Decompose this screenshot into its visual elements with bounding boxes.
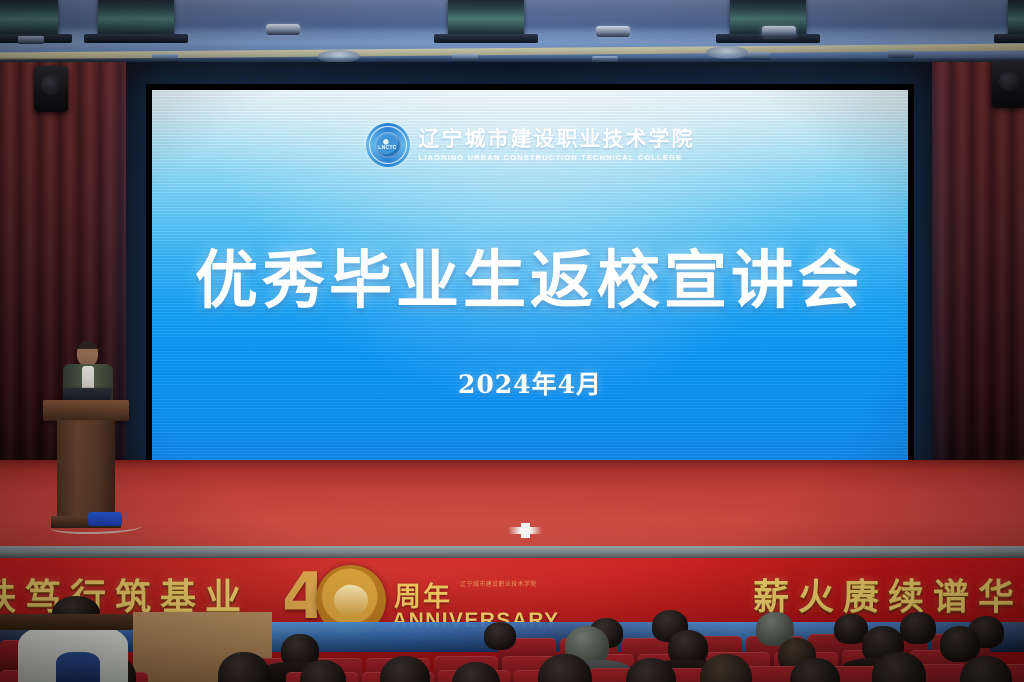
- stage-lighting-glow: [0, 460, 1024, 560]
- ceiling-light: [762, 26, 796, 37]
- presenter-head: [77, 341, 98, 366]
- wall-loudspeaker-right: [992, 62, 1024, 108]
- audience-shoulders: [56, 652, 100, 682]
- ceiling-projector: [0, 0, 58, 36]
- ceiling-projector: [448, 0, 524, 36]
- presentation-slide: LNCTC 辽宁城市建设职业技术学院 LIAONING URBAN CONSTR…: [152, 90, 908, 460]
- ceiling-projector: [1008, 0, 1024, 36]
- school-emblem-icon: LNCTC: [366, 123, 410, 167]
- school-name-en: LIAONING URBAN CONSTRUCTION TECHNICAL CO…: [419, 153, 683, 162]
- ceiling-light: [266, 24, 300, 35]
- school-name-block: 辽宁城市建设职业技术学院 LIAONING URBAN CONSTRUCTION…: [419, 128, 695, 162]
- ceiling-vent: [18, 36, 44, 44]
- slide-header: LNCTC 辽宁城市建设职业技术学院 LIAONING URBAN CONSTR…: [152, 123, 908, 167]
- auditorium-photo: LNCTC 辽宁城市建设职业技术学院 LIAONING URBAN CONSTR…: [0, 0, 1024, 682]
- led-screen-frame: LNCTC 辽宁城市建设职业技术学院 LIAONING URBAN CONSTR…: [146, 84, 914, 466]
- ceiling-vent: [888, 50, 914, 58]
- slide-title: 优秀毕业生返校宣讲会: [152, 230, 908, 321]
- audience-head: [484, 622, 516, 650]
- slide-date: 2024年4月: [152, 365, 908, 401]
- podium: [43, 400, 129, 528]
- emblem-monogram: LNCTC: [366, 145, 410, 151]
- ceiling-projector: [98, 0, 174, 36]
- school-name-cn: 辽宁城市建设职业技术学院: [419, 128, 695, 151]
- wall-loudspeaker-left: [34, 66, 68, 112]
- audience-head: [900, 612, 936, 644]
- stage-floor-marker: [508, 527, 542, 534]
- anniversary-subtitle: 辽宁城市建设职业技术学院: [460, 579, 537, 588]
- stage-floor: [0, 460, 1024, 560]
- front-row-rail: [0, 614, 133, 630]
- audience-head: [940, 626, 980, 662]
- audience-area: [0, 596, 1024, 682]
- ceiling: [0, 0, 1024, 64]
- audience-head: [218, 652, 270, 682]
- ceiling-light: [596, 26, 630, 37]
- podium-top: [43, 400, 129, 421]
- podium-body: [57, 420, 115, 516]
